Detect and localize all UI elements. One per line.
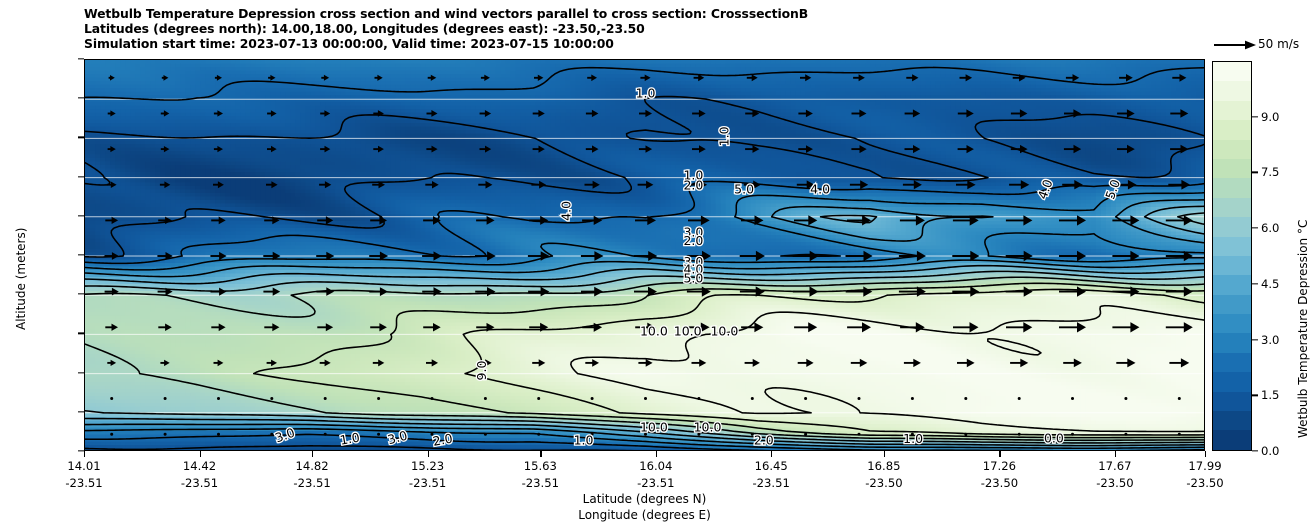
- cross-section-plot: 1.01.01.02.05.04.04.03.02.03.04.05.04.05…: [84, 59, 1205, 451]
- colorbar-tick-label: 0.0: [1261, 444, 1279, 458]
- colorbar-band: [1213, 120, 1251, 139]
- y-tick-mark: [78, 176, 84, 177]
- colorbar-title: Wetbulb Temperature Depression °C: [1296, 220, 1310, 438]
- colorbar-band: [1213, 101, 1251, 120]
- x-tick-label-latitude: 15.63: [524, 459, 557, 473]
- colorbar-band: [1213, 237, 1251, 256]
- x-tick-mark: [999, 451, 1000, 457]
- y-tick-mark: [78, 137, 84, 138]
- colorbar-band: [1213, 372, 1251, 391]
- chart-title-block: Wetbulb Temperature Depression cross sec…: [84, 6, 1204, 52]
- colorbar-tick-mark: [1252, 395, 1258, 396]
- x-tick-label-longitude: -23.51: [637, 476, 674, 490]
- x-tick-label-latitude: 17.99: [1188, 459, 1221, 473]
- plot-canvas: 1.01.01.02.05.04.04.03.02.03.04.05.04.05…: [85, 60, 1204, 450]
- x-tick-label-longitude: -23.50: [865, 476, 902, 490]
- x-tick-mark: [428, 451, 429, 457]
- x-axis-label-longitude: Longitude (degrees E): [84, 508, 1205, 522]
- y-tick-mark: [78, 98, 84, 99]
- colorbar-tick-mark: [1252, 283, 1258, 284]
- x-tick-label-latitude: 14.01: [67, 459, 100, 473]
- colorbar-band: [1213, 81, 1251, 100]
- colorbar-band: [1213, 392, 1251, 411]
- y-tick-mark: [78, 333, 84, 334]
- x-tick-label-latitude: 16.45: [755, 459, 788, 473]
- colorbar-band: [1213, 430, 1251, 449]
- x-axis-label-latitude: Latitude (degrees N): [84, 492, 1205, 506]
- y-tick-mark: [78, 411, 84, 412]
- colorbar-band: [1213, 178, 1251, 197]
- colorbar-band: [1213, 353, 1251, 372]
- x-tick-mark: [84, 451, 85, 457]
- x-tick-label-longitude: -23.51: [522, 476, 559, 490]
- colorbar-band: [1213, 314, 1251, 333]
- wind-vector-key: 50 m/s: [1212, 36, 1312, 56]
- x-tick-mark: [656, 451, 657, 457]
- x-tick-mark: [200, 451, 201, 457]
- colorbar-band: [1213, 411, 1251, 430]
- y-axis-label: Altitude (meters): [14, 228, 28, 330]
- colorbar-tick-mark: [1252, 339, 1258, 340]
- x-tick-label-longitude: -23.50: [1096, 476, 1133, 490]
- colorbar-band: [1213, 198, 1251, 217]
- x-tick-label-longitude: -23.51: [65, 476, 102, 490]
- colorbar-tick-mark: [1252, 172, 1258, 173]
- colorbar-tick-label: 3.0: [1261, 333, 1279, 347]
- colorbar-band: [1213, 256, 1251, 275]
- x-tick-mark: [1115, 451, 1116, 457]
- colorbar-band: [1213, 140, 1251, 159]
- colorbar-band: [1213, 217, 1251, 236]
- x-tick-label-longitude: -23.50: [1186, 476, 1223, 490]
- x-tick-label-latitude: 14.42: [183, 459, 216, 473]
- x-tick-label-longitude: -23.51: [293, 476, 330, 490]
- y-tick-mark: [78, 294, 84, 295]
- page-title: Wetbulb Temperature Depression cross sec…: [84, 6, 1204, 21]
- y-tick-mark: [78, 254, 84, 255]
- x-tick-mark: [1205, 451, 1206, 457]
- colorbar-tick-label: 1.5: [1261, 388, 1279, 402]
- arrow-right-icon: [1212, 36, 1258, 54]
- colorbar-band: [1213, 275, 1251, 294]
- x-tick-label-latitude: 15.23: [411, 459, 444, 473]
- colorbar: [1212, 61, 1252, 451]
- x-tick-label-longitude: -23.51: [181, 476, 218, 490]
- colorbar-tick-mark: [1252, 227, 1258, 228]
- title-subtitle-coords: Latitudes (degrees north): 14.00,18.00, …: [84, 21, 1204, 36]
- y-tick-mark: [78, 58, 84, 59]
- y-tick-mark: [78, 215, 84, 216]
- x-tick-mark: [312, 451, 313, 457]
- x-tick-label-longitude: -23.50: [981, 476, 1018, 490]
- x-tick-label-latitude: 16.04: [639, 459, 672, 473]
- x-tick-label-longitude: -23.51: [753, 476, 790, 490]
- colorbar-tick-label: 4.5: [1261, 277, 1279, 291]
- colorbar-band: [1213, 62, 1251, 81]
- y-tick-mark: [78, 372, 84, 373]
- x-tick-mark: [884, 451, 885, 457]
- x-tick-label-latitude: 17.26: [983, 459, 1016, 473]
- chart-root: Wetbulb Temperature Depression cross sec…: [0, 0, 1312, 526]
- x-tick-label-latitude: 16.85: [867, 459, 900, 473]
- x-tick-label-latitude: 14.82: [295, 459, 328, 473]
- title-subtitle-times: Simulation start time: 2023-07-13 00:00:…: [84, 36, 1204, 51]
- x-tick-label-longitude: -23.51: [409, 476, 446, 490]
- colorbar-tick-label: 6.0: [1261, 221, 1279, 235]
- x-tick-label-latitude: 17.67: [1098, 459, 1131, 473]
- x-tick-mark: [540, 451, 541, 457]
- colorbar-tick-mark: [1252, 450, 1258, 451]
- wind-key-label: 50 m/s: [1258, 37, 1299, 51]
- colorbar-tick-mark: [1252, 116, 1258, 117]
- x-tick-mark: [771, 451, 772, 457]
- colorbar-band: [1213, 333, 1251, 352]
- colorbar-tick-label: 7.5: [1261, 165, 1279, 179]
- colorbar-band: [1213, 295, 1251, 314]
- colorbar-tick-label: 9.0: [1261, 110, 1279, 124]
- colorbar-band: [1213, 159, 1251, 178]
